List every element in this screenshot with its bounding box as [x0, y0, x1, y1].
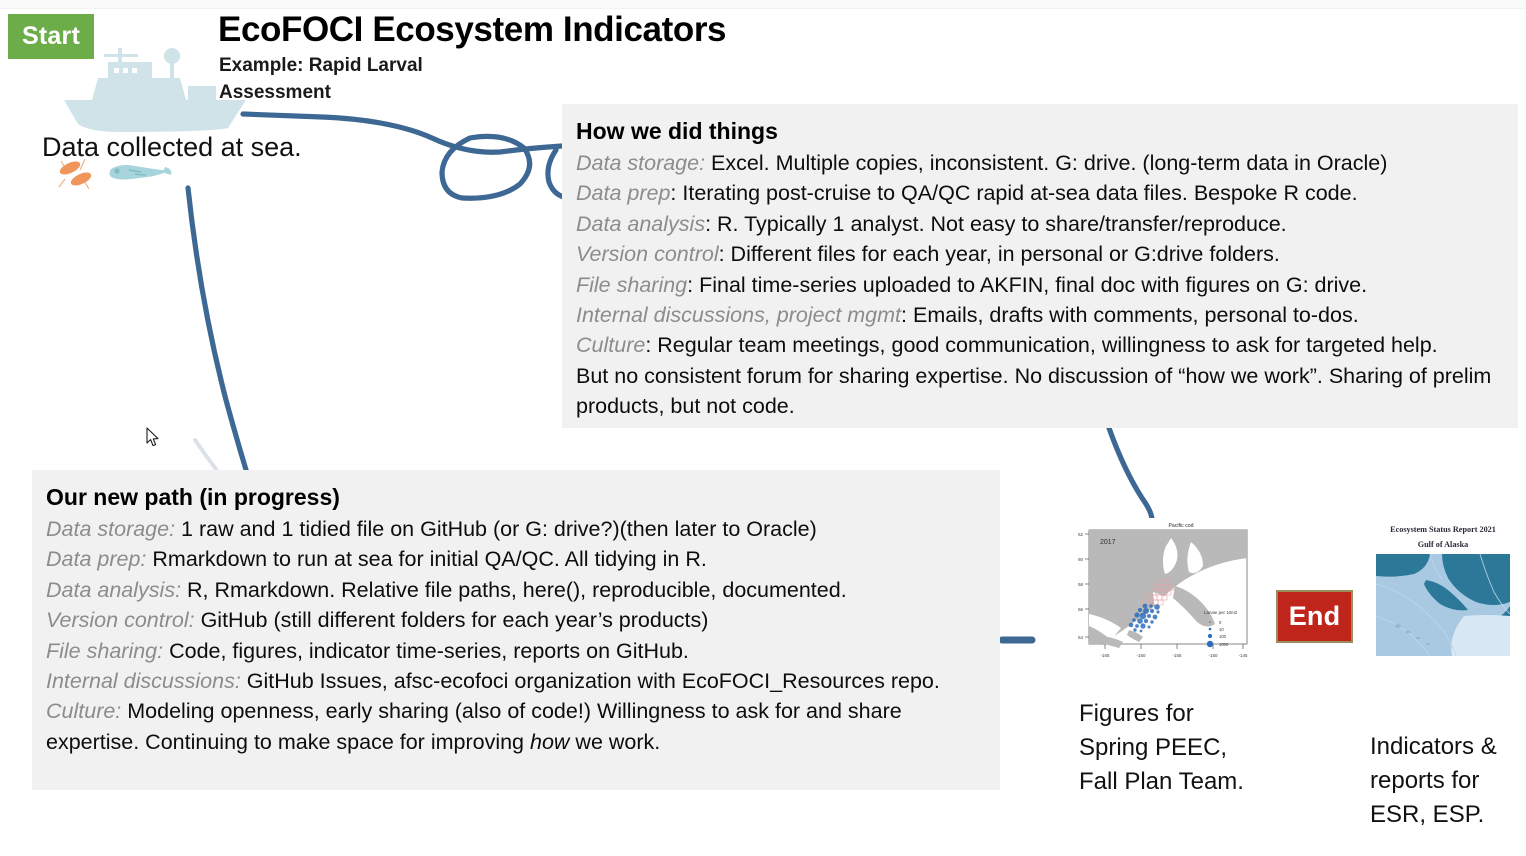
panel-new-value: Modeling openness, early sharing (also o…: [121, 699, 901, 723]
figure-cod-xtick: -160: [1137, 653, 1146, 658]
panel-new-row: Internal discussions: GitHub Issues, afs…: [46, 666, 986, 696]
panel-new-title: Our new path (in progress): [46, 482, 986, 512]
figure-cod-ytick: 62: [1078, 532, 1083, 537]
figure-cod-caption: Figures for Spring PEEC, Fall Plan Team.: [1079, 697, 1259, 799]
slide-canvas: Start EcoFOCI Ecosystem Indicators Examp…: [0, 0, 1526, 856]
panel-how-value: : Different files for each year, in pers…: [719, 242, 1280, 266]
figure-cod-xtick: -155: [1173, 653, 1182, 658]
panel-how-value: Excel. Multiple copies, inconsistent. G:…: [705, 151, 1387, 175]
figure-esr-title-line1: Ecosystem Status Report 2021: [1390, 525, 1496, 534]
figure-cod-title: Pacific cod: [1168, 523, 1193, 529]
panel-new-value: Code, figures, indicator time-series, re…: [163, 639, 689, 663]
panel-how-row: Internal discussions, project mgmt: Emai…: [576, 300, 1504, 330]
panel-new-continuation-emphasis: how: [530, 730, 569, 754]
panel-how-value: : Emails, drafts with comments, personal…: [901, 303, 1359, 327]
panel-how-row: Data prep: Iterating post-cruise to QA/Q…: [576, 178, 1504, 208]
figure-cod-xtick: -165: [1101, 653, 1110, 658]
research-vessel-icon: [60, 42, 250, 132]
panel-how-we-did-things: How we did things Data storage: Excel. M…: [562, 104, 1518, 428]
panel-new-label: Internal discussions:: [46, 669, 241, 693]
panel-how-row: Version control: Different files for eac…: [576, 239, 1504, 269]
figure-pacific-cod-larvae-map[interactable]: Pacific cod 2017: [1067, 518, 1270, 670]
panel-how-label: Version control: [576, 242, 719, 266]
panel-how-label: File sharing: [576, 273, 687, 297]
panel-new-continuation-post: we work.: [569, 730, 660, 754]
panel-how-label: Data analysis: [576, 212, 705, 236]
figure-cod-ytick: 58: [1078, 582, 1083, 587]
figure-esr-title-line2: Gulf of Alaska: [1418, 540, 1469, 549]
page-subtitle: Example: Rapid Larval Assessment: [219, 52, 539, 106]
panel-new-label: File sharing:: [46, 639, 163, 663]
panel-new-label: Culture:: [46, 699, 121, 723]
mouse-pointer-icon: [146, 427, 160, 447]
panel-how-value: : Final time-series uploaded to AKFIN, f…: [687, 273, 1367, 297]
panel-new-row: Data prep: Rmarkdown to run at sea for i…: [46, 544, 986, 574]
panel-new-label: Data analysis:: [46, 578, 181, 602]
end-button[interactable]: End: [1276, 590, 1353, 643]
panel-how-label: Internal discussions, project mgmt: [576, 303, 901, 327]
figure-cod-xtick: -150: [1209, 653, 1218, 658]
plankton-larvae-icon: [55, 157, 175, 195]
panel-our-new-path: Our new path (in progress) Data storage:…: [32, 470, 1000, 790]
panel-new-value: GitHub (still different folders for each…: [195, 608, 709, 632]
panel-new-continuation-pre: expertise. Continuing to make space for …: [46, 730, 530, 754]
panel-how-label: Culture: [576, 333, 645, 357]
panel-new-value: GitHub Issues, afsc-ecofoci organization…: [241, 669, 940, 693]
page-title: EcoFOCI Ecosystem Indicators: [218, 10, 726, 50]
panel-how-title: How we did things: [576, 116, 1504, 146]
panel-how-value: : Iterating post-cruise to QA/QC rapid a…: [670, 181, 1357, 205]
svg-text:Larvae per 10m2: Larvae per 10m2: [1204, 610, 1238, 615]
panel-new-label: Data storage:: [46, 517, 175, 541]
figure-cod-ytick: 56: [1078, 607, 1083, 612]
top-band: [0, 0, 1526, 9]
panel-new-label: Version control:: [46, 608, 195, 632]
figure-cod-ytick: 54: [1078, 635, 1083, 640]
svg-text:10: 10: [1219, 627, 1224, 632]
panel-how-row: Culture: Regular team meetings, good com…: [576, 330, 1504, 360]
panel-how-row: Data storage: Excel. Multiple copies, in…: [576, 148, 1504, 178]
svg-text:100: 100: [1219, 634, 1227, 639]
panel-new-continuation: expertise. Continuing to make space for …: [46, 727, 986, 757]
figure-cod-xtick: -145: [1239, 653, 1248, 658]
panel-new-value: Rmarkdown to run at sea for initial QA/Q…: [146, 547, 706, 571]
figure-esr-map: [1376, 554, 1510, 656]
panel-new-row: Data storage: 1 raw and 1 tidied file on…: [46, 514, 986, 544]
panel-new-row: Data analysis: R, Rmarkdown. Relative fi…: [46, 575, 986, 605]
panel-how-continuation: But no consistent forum for sharing expe…: [576, 361, 1504, 422]
svg-text:1000: 1000: [1219, 642, 1229, 647]
panel-new-row: Version control: GitHub (still different…: [46, 605, 986, 635]
panel-new-value: R, Rmarkdown. Relative file paths, here(…: [181, 578, 847, 602]
figure-cod-ytick: 60: [1078, 557, 1083, 562]
panel-new-value: 1 raw and 1 tidied file on GitHub (or G:…: [175, 517, 817, 541]
figure-cod-year-label: 2017: [1100, 539, 1116, 546]
figure-ecosystem-status-report-cover[interactable]: Ecosystem Status Report 2021 Gulf of Ala…: [1368, 518, 1518, 660]
panel-how-label: Data prep: [576, 181, 670, 205]
figure-esr-caption: Indicators & reports for ESR, ESP.: [1370, 730, 1526, 832]
panel-new-row: File sharing: Code, figures, indicator t…: [46, 636, 986, 666]
panel-new-label: Data prep:: [46, 547, 146, 571]
panel-how-value: : R. Typically 1 analyst. Not easy to sh…: [705, 212, 1287, 236]
panel-how-value: : Regular team meetings, good communicat…: [645, 333, 1437, 357]
panel-new-row: Culture: Modeling openness, early sharin…: [46, 696, 986, 726]
panel-how-label: Data storage:: [576, 151, 705, 175]
panel-how-row: Data analysis: R. Typically 1 analyst. N…: [576, 209, 1504, 239]
panel-how-row: File sharing: Final time-series uploaded…: [576, 270, 1504, 300]
